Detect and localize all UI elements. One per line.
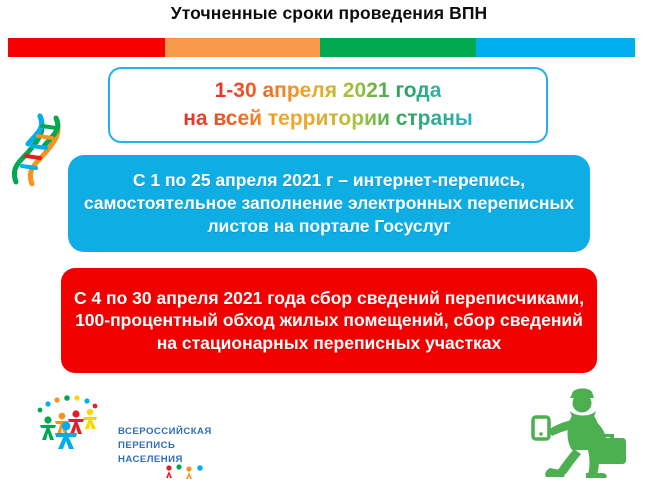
page-title: Уточненные сроки проведения ВПН [0, 3, 658, 24]
logo-wordmark-line-1: ВСЕРОССИЙСКАЯ [118, 425, 212, 439]
color-bar-segment-orange [165, 38, 320, 57]
internet-census-text: С 1 по 25 апреля 2021 г – интернет-переп… [82, 169, 576, 237]
logo-wordmark: ВСЕРОССИЙСКАЯ ПЕРЕПИСЬ НАСЕЛЕНИЯ [118, 425, 212, 467]
headline-box: 1-30 апреля 2021 года на всей территории… [108, 67, 548, 143]
field-census-text: С 4 по 30 апреля 2021 года сбор сведений… [73, 287, 585, 353]
color-bar-segment-green [320, 38, 476, 57]
four-color-divider-bar [8, 38, 635, 57]
slide-canvas: Уточненные сроки проведения ВПН [0, 0, 658, 499]
vsenaselenie-logo: ВСЕРОССИЙСКАЯ ПЕРЕПИСЬ НАСЕЛЕНИЯ [34, 392, 224, 482]
headline-line-1: 1-30 апреля 2021 года [215, 77, 442, 105]
logo-wordmark-line-2: ПЕРЕПИСЬ [118, 439, 212, 453]
internet-census-callout: С 1 по 25 апреля 2021 г – интернет-переп… [68, 155, 590, 252]
census-taker-figure [524, 386, 642, 484]
color-bar-segment-red [8, 38, 165, 57]
headline-line-2: на всей территории страны [183, 105, 473, 133]
color-bar-segment-blue [476, 38, 635, 57]
field-census-callout: С 4 по 30 апреля 2021 года сбор сведений… [61, 268, 597, 373]
dna-helix-decoration [6, 104, 68, 186]
